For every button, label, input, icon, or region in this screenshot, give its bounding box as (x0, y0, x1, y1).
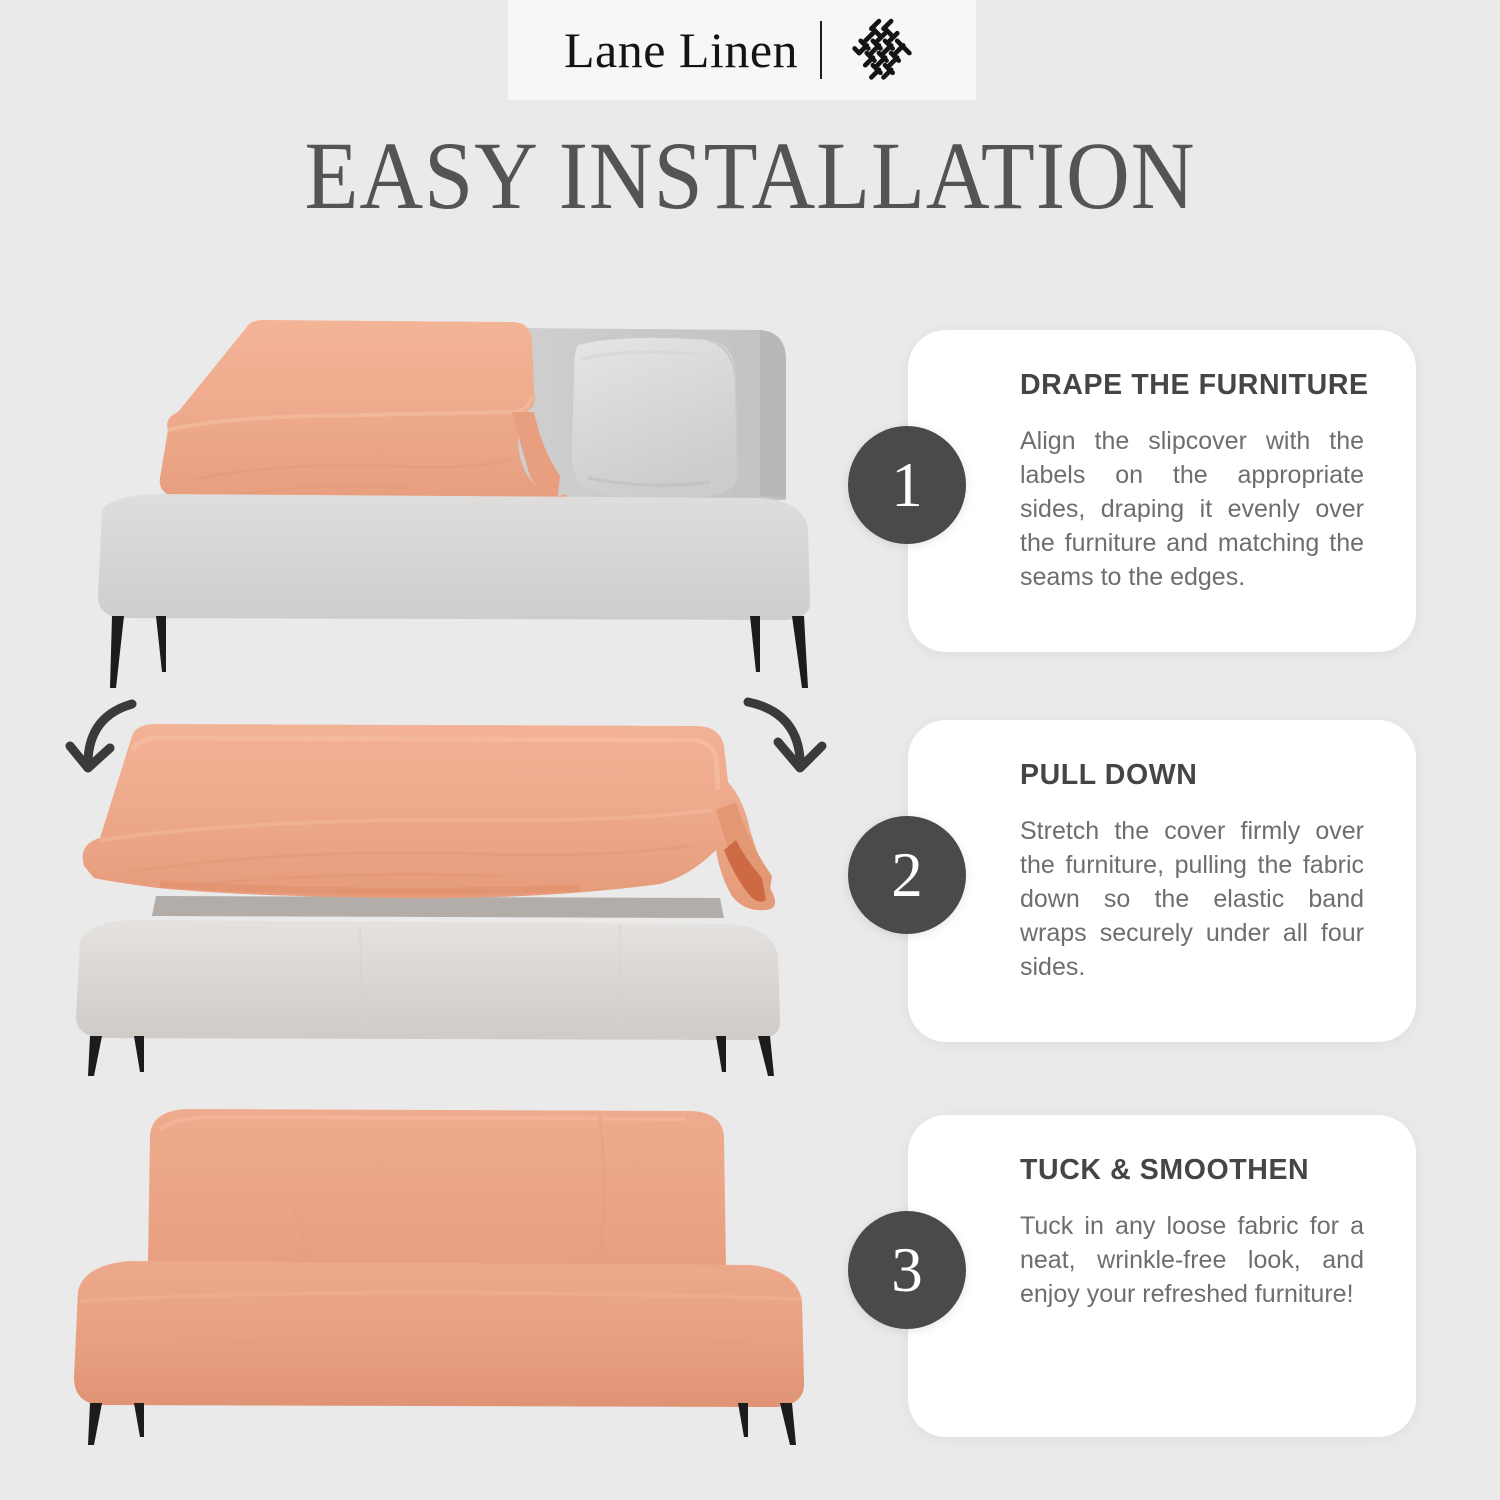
curved-down-arrow-left (70, 704, 132, 768)
brand-name: Lane Linen (564, 25, 798, 75)
step-number-badge-2: 2 (848, 816, 966, 934)
step-heading-1: DRAPE THE FURNITURE (1020, 368, 1364, 402)
woven-basketweave-icon (844, 12, 920, 88)
step-body-1: Align the slipcover with the labels on t… (1020, 424, 1364, 594)
step-card-1: 1 DRAPE THE FURNITURE Align the slipcove… (908, 330, 1416, 652)
step-row-2: 2 PULL DOWN Stretch the cover firmly ove… (0, 690, 1500, 1080)
brand-logo-band: Lane Linen (508, 0, 976, 100)
page-title: EASY INSTALLATION (60, 128, 1440, 224)
illustration-step-1 (60, 300, 850, 690)
step-number-badge-1: 1 (848, 426, 966, 544)
step-heading-2: PULL DOWN (1020, 758, 1364, 792)
step-card-2: 2 PULL DOWN Stretch the cover firmly ove… (908, 720, 1416, 1042)
step-card-3: 3 TUCK & SMOOTHEN Tuck in any loose fabr… (908, 1115, 1416, 1437)
step-body-3: Tuck in any loose fabric for a neat, wri… (1020, 1209, 1364, 1311)
curved-down-arrow-right (748, 702, 822, 768)
logo-divider (820, 21, 822, 79)
step-number-badge-3: 3 (848, 1211, 966, 1329)
step-heading-3: TUCK & SMOOTHEN (1020, 1153, 1364, 1187)
step-row-1: 1 DRAPE THE FURNITURE Align the slipcove… (0, 300, 1500, 690)
illustration-step-3 (60, 1085, 850, 1475)
step-body-2: Stretch the cover firmly over the furnit… (1020, 814, 1364, 984)
illustration-step-2 (60, 690, 850, 1080)
step-row-3: 3 TUCK & SMOOTHEN Tuck in any loose fabr… (0, 1085, 1500, 1475)
